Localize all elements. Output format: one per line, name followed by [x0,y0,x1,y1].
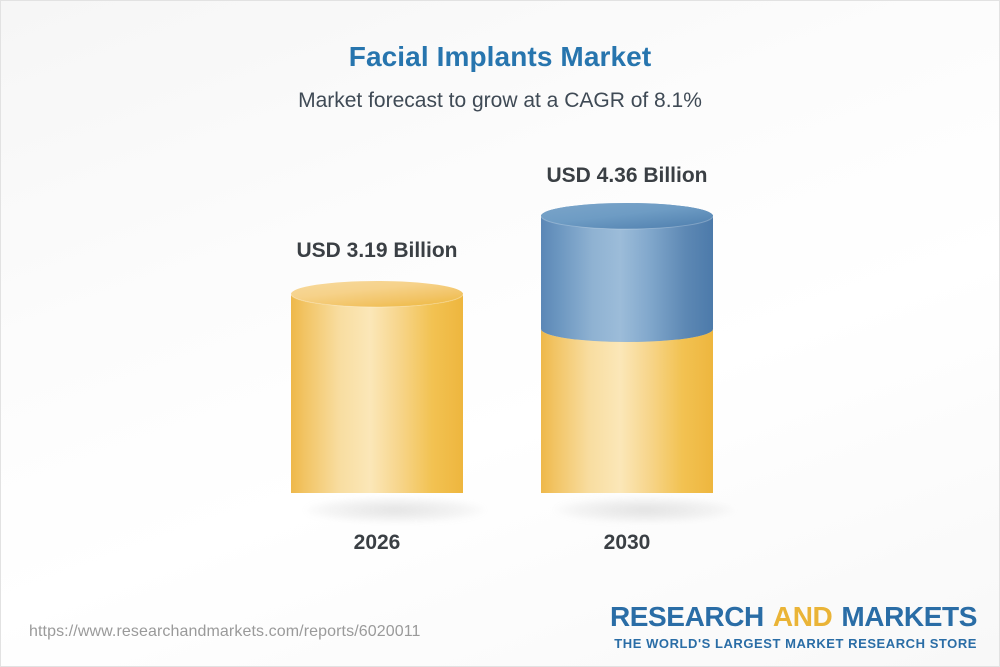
category-label-2026: 2026 [291,531,463,555]
bar-2026-svg [291,281,463,513]
value-label-2026: USD 3.19 Billion [291,239,463,263]
logo-tagline: THE WORLD'S LARGEST MARKET RESEARCH STOR… [610,637,977,650]
category-label-2030: 2030 [541,531,713,555]
logo-word-research: RESEARCH [610,601,764,632]
bar-cylinder-2030 [541,203,713,511]
page-title: Facial Implants Market [1,41,999,73]
bar-2030-svg [541,203,713,513]
logo-wordmark: RESEARCHANDMARKETS [610,603,977,631]
infographic-canvas: Facial Implants Market Market forecast t… [0,0,1000,667]
logo-word-markets: MARKETS [841,601,977,632]
chart-plot-area: USD 3.19 Billion [1,131,1000,571]
bar-shadow-2026 [305,497,485,523]
logo-word-and: AND [773,601,832,632]
bar-shadow-2030 [555,497,735,523]
research-and-markets-logo[interactable]: RESEARCHANDMARKETS THE WORLD'S LARGEST M… [610,603,977,650]
bar-cylinder-2026 [291,281,463,511]
page-subtitle: Market forecast to grow at a CAGR of 8.1… [1,89,999,113]
source-url[interactable]: https://www.researchandmarkets.com/repor… [29,623,421,641]
value-label-2030: USD 4.36 Billion [541,164,713,188]
